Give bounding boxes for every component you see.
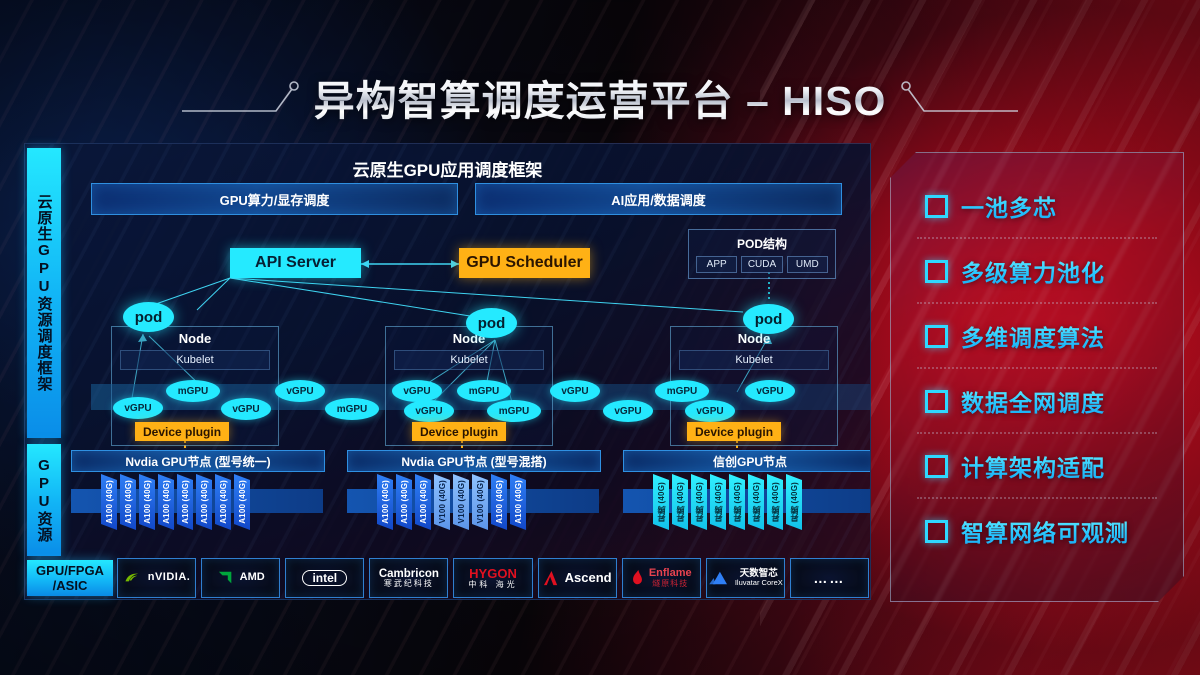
pod-ellipse-3[interactable]: pod	[743, 304, 794, 334]
vendor-name-cambricon: Cambricon 寒武纪科技	[379, 568, 439, 588]
pod-structure-title: POD结构	[689, 230, 835, 256]
gpu-card-label: A100 (40G)	[400, 480, 409, 524]
vendor-logo-iluvatar[interactable]: 天数智芯 Iluvatar CoreX	[706, 558, 785, 598]
enflame-sub: 燧原科技	[649, 580, 692, 588]
mgpu-3-1[interactable]: mGPU	[655, 380, 709, 402]
gpu-card-1-4[interactable]: V100 (40G)	[453, 474, 469, 530]
feature-label: 多维调度算法	[961, 319, 1105, 353]
gpu-card-label: A100 (40G)	[162, 480, 171, 524]
feature-label: 智算网络可观测	[961, 514, 1129, 548]
feature-label: 数据全网调度	[961, 384, 1105, 418]
pod-cell-app: APP	[696, 256, 737, 273]
slide-canvas: 异构智算调度运营平台 – HISO 云原生GPU应用调度框架 GPU算力/显存调…	[0, 0, 1200, 675]
amd-icon	[217, 570, 235, 586]
gpu-card-2-0[interactable]: 昇腾 (40G)	[653, 474, 669, 530]
vgpu-1-2[interactable]: vGPU	[221, 398, 271, 420]
gpu-card-label: 昇腾 (40G)	[656, 482, 667, 522]
gpu-card-1-6[interactable]: A100 (40G)	[491, 474, 507, 530]
vgpu-1-1[interactable]: vGPU	[113, 397, 163, 419]
cambricon-main: Cambricon	[379, 568, 439, 580]
vendor-logo-amd[interactable]: AMD	[201, 558, 280, 598]
pod-ellipse-2[interactable]: pod	[466, 308, 517, 338]
mgpu-1-1[interactable]: mGPU	[166, 380, 220, 402]
feature-bullet-icon	[925, 455, 948, 478]
vendor-logo-cambricon[interactable]: Cambricon 寒武纪科技	[369, 558, 448, 598]
feature-list: 一池多芯多级算力池化多维调度算法数据全网调度计算架构适配智算网络可观测	[891, 153, 1183, 601]
capability-bar-0[interactable]: GPU算力/显存调度	[91, 183, 458, 215]
gpu-card-2-4[interactable]: 昇腾 (40G)	[729, 474, 745, 530]
device-plugin-1[interactable]: Device plugin	[135, 422, 229, 441]
gpu-card-0-5[interactable]: A100 (40G)	[196, 474, 212, 530]
vendor-name-more: ……	[813, 571, 845, 586]
gpu-node-bar-0[interactable]: Nvdia GPU节点 (型号统一)	[71, 450, 325, 472]
gpu-card-row-1: A100 (40G)A100 (40G)A100 (40G)V100 (40G)…	[377, 474, 529, 530]
vendor-logo-more[interactable]: ……	[790, 558, 869, 598]
gpu-card-label: A100 (40G)	[381, 480, 390, 524]
gpu-card-2-6[interactable]: 昇腾 (40G)	[767, 474, 783, 530]
gpu-card-label: A100 (40G)	[238, 480, 247, 524]
gpu-card-2-2[interactable]: 昇腾 (40G)	[691, 474, 707, 530]
gpu-card-label: 昇腾 (40G)	[770, 482, 781, 522]
gpu-card-label: A100 (40G)	[219, 480, 228, 524]
feature-label: 一池多芯	[961, 189, 1057, 223]
feature-bullet-icon	[925, 260, 948, 283]
iluvatar-icon	[708, 570, 730, 586]
gpu-card-1-1[interactable]: A100 (40G)	[396, 474, 412, 530]
page-title: 异构智算调度运营平台 – HISO	[314, 67, 887, 127]
api-server-node[interactable]: API Server	[230, 248, 361, 278]
feature-bullet-icon	[925, 390, 948, 413]
vgpu-2-4[interactable]: vGPU	[603, 400, 653, 422]
framework-section-title: 云原生GPU应用调度框架	[25, 156, 870, 181]
hygon-sub: 中科 海光	[468, 581, 517, 589]
vgpu-1-3[interactable]: vGPU	[275, 380, 325, 402]
feature-item-0[interactable]: 一池多芯	[891, 175, 1183, 237]
vendor-logo-ascend[interactable]: Ascend	[538, 558, 617, 598]
node-label-3: Node	[671, 331, 837, 346]
vendor-logo-enflame[interactable]: Enflame 燧原科技	[622, 558, 701, 598]
vendor-logo-hygon[interactable]: HYGON 中科 海光	[453, 558, 532, 598]
kubelet-3: Kubelet	[679, 350, 829, 370]
hygon-main: HYGON	[469, 566, 517, 581]
feature-label: 计算架构适配	[961, 449, 1105, 483]
kubelet-2: Kubelet	[394, 350, 544, 370]
device-plugin-2[interactable]: Device plugin	[412, 422, 506, 441]
vgpu-3-2[interactable]: vGPU	[745, 380, 795, 402]
mgpu-1-2[interactable]: mGPU	[325, 398, 379, 420]
feature-item-2[interactable]: 多维调度算法	[891, 305, 1183, 367]
feature-item-5[interactable]: 智算网络可观测	[891, 500, 1183, 562]
gpu-card-label: V100 (40G)	[438, 480, 447, 523]
feature-panel: 一池多芯多级算力池化多维调度算法数据全网调度计算架构适配智算网络可观测	[890, 152, 1184, 602]
gpu-card-label: 昇腾 (40G)	[694, 482, 705, 522]
gpu-card-label: 昇腾 (40G)	[751, 482, 762, 522]
enflame-icon	[631, 570, 644, 586]
vgpu-2-3[interactable]: vGPU	[550, 380, 600, 402]
gpu-card-label: A100 (40G)	[143, 480, 152, 524]
feature-item-4[interactable]: 计算架构适配	[891, 435, 1183, 497]
gpu-card-2-5[interactable]: 昇腾 (40G)	[748, 474, 764, 530]
feature-bullet-icon	[925, 195, 948, 218]
gpu-card-label: 昇腾 (40G)	[732, 482, 743, 522]
iluvatar-sub: Iluvatar CoreX	[735, 579, 783, 587]
gpu-card-1-2[interactable]: A100 (40G)	[415, 474, 431, 530]
pod-cell-cuda: CUDA	[741, 256, 782, 273]
node-label-2: Node	[386, 331, 552, 346]
gpu-card-1-7[interactable]: A100 (40G)	[510, 474, 526, 530]
gpu-card-2-7[interactable]: 昇腾 (40G)	[786, 474, 802, 530]
gpu-card-label: A100 (40G)	[124, 480, 133, 524]
gpu-card-label: V100 (40G)	[457, 480, 466, 523]
vendor-name-amd: AMD	[240, 572, 265, 584]
gpu-card-label: A100 (40G)	[419, 480, 428, 524]
feature-bullet-icon	[925, 325, 948, 348]
cambricon-sub: 寒武纪科技	[379, 580, 439, 588]
sidebar-tab-framework[interactable]: 云原生GPU资源调度框架	[27, 148, 61, 438]
vgpu-2-1[interactable]: vGPU	[392, 380, 442, 402]
feature-item-1[interactable]: 多级算力池化	[891, 240, 1183, 302]
gpu-card-0-1[interactable]: A100 (40G)	[120, 474, 136, 530]
pod-structure-box[interactable]: POD结构 APP CUDA UMD	[688, 229, 836, 279]
gpu-scheduler-node[interactable]: GPU Scheduler	[459, 248, 590, 278]
vendor-logo-strip: nVIDIA. AMD intel Cambricon 寒武纪科技 HYGON …	[24, 558, 869, 598]
gpu-card-1-5[interactable]: V100 (40G)	[472, 474, 488, 530]
vendor-logo-intel[interactable]: intel	[285, 558, 364, 598]
gpu-node-bar-2[interactable]: 信创GPU节点	[623, 450, 871, 472]
title-left-decoration	[180, 77, 300, 117]
feature-bullet-icon	[925, 520, 948, 543]
vendor-logo-nvidia[interactable]: nVIDIA.	[117, 558, 196, 598]
gpu-card-0-4[interactable]: A100 (40G)	[177, 474, 193, 530]
feature-item-3[interactable]: 数据全网调度	[891, 370, 1183, 432]
vendor-name-nvidia: nVIDIA.	[148, 572, 191, 584]
feature-label: 多级算力池化	[961, 254, 1105, 288]
gpu-card-0-0[interactable]: A100 (40G)	[101, 474, 117, 530]
vgpu-2-2[interactable]: vGPU	[404, 400, 454, 422]
gpu-card-1-0[interactable]: A100 (40G)	[377, 474, 393, 530]
gpu-card-label: A100 (40G)	[181, 480, 190, 524]
vendor-name-intel: intel	[302, 570, 347, 587]
mgpu-2-2[interactable]: mGPU	[487, 400, 541, 422]
gpu-card-1-3[interactable]: V100 (40G)	[434, 474, 450, 530]
vendor-name-iluvatar: 天数智芯 Iluvatar CoreX	[735, 569, 783, 587]
vgpu-3-1[interactable]: vGPU	[685, 400, 735, 422]
gpu-card-label: 昇腾 (40G)	[713, 482, 724, 522]
gpu-card-label: A100 (40G)	[514, 480, 523, 524]
gpu-card-label: 昇腾 (40G)	[789, 482, 800, 522]
gpu-card-row-0: A100 (40G)A100 (40G)A100 (40G)A100 (40G)…	[101, 474, 253, 530]
sidebar-tab-gpu-resource[interactable]: GPU资源	[27, 444, 61, 556]
kubelet-1: Kubelet	[120, 350, 270, 370]
enflame-main: Enflame	[649, 567, 692, 579]
gpu-card-label: 昇腾 (40G)	[675, 482, 686, 522]
mgpu-2-1[interactable]: mGPU	[457, 380, 511, 402]
nvidia-icon	[123, 570, 143, 586]
capability-bar-1[interactable]: AI应用/数据调度	[475, 183, 842, 215]
vendor-name-ascend: Ascend	[565, 571, 612, 585]
vendor-name-hygon: HYGON 中科 海光	[468, 567, 517, 589]
gpu-node-bar-1[interactable]: Nvdia GPU节点 (型号混搭)	[347, 450, 601, 472]
slide-title-row: 异构智算调度运营平台 – HISO	[0, 66, 1200, 128]
gpu-card-label: V100 (40G)	[476, 480, 485, 523]
gpu-card-label: A100 (40G)	[495, 480, 504, 524]
ascend-icon	[543, 570, 560, 587]
pod-structure-cells: APP CUDA UMD	[689, 256, 835, 279]
title-right-decoration	[900, 77, 1020, 117]
gpu-card-label: A100 (40G)	[105, 480, 114, 524]
architecture-board: 云原生GPU应用调度框架 GPU算力/显存调度 AI应用/数据调度	[24, 143, 871, 600]
gpu-card-2-3[interactable]: 昇腾 (40G)	[710, 474, 726, 530]
gpu-card-0-3[interactable]: A100 (40G)	[158, 474, 174, 530]
pod-ellipse-1[interactable]: pod	[123, 302, 174, 332]
pod-cell-umd: UMD	[787, 256, 828, 273]
gpu-card-0-7[interactable]: A100 (40G)	[234, 474, 250, 530]
gpu-card-2-1[interactable]: 昇腾 (40G)	[672, 474, 688, 530]
node-label-1: Node	[112, 331, 278, 346]
vendor-name-enflame: Enflame 燧原科技	[649, 568, 692, 588]
gpu-card-label: A100 (40G)	[200, 480, 209, 524]
device-plugin-3[interactable]: Device plugin	[687, 422, 781, 441]
gpu-card-0-2[interactable]: A100 (40G)	[139, 474, 155, 530]
gpu-card-0-6[interactable]: A100 (40G)	[215, 474, 231, 530]
gpu-card-row-2: 昇腾 (40G)昇腾 (40G)昇腾 (40G)昇腾 (40G)昇腾 (40G)…	[653, 474, 805, 530]
